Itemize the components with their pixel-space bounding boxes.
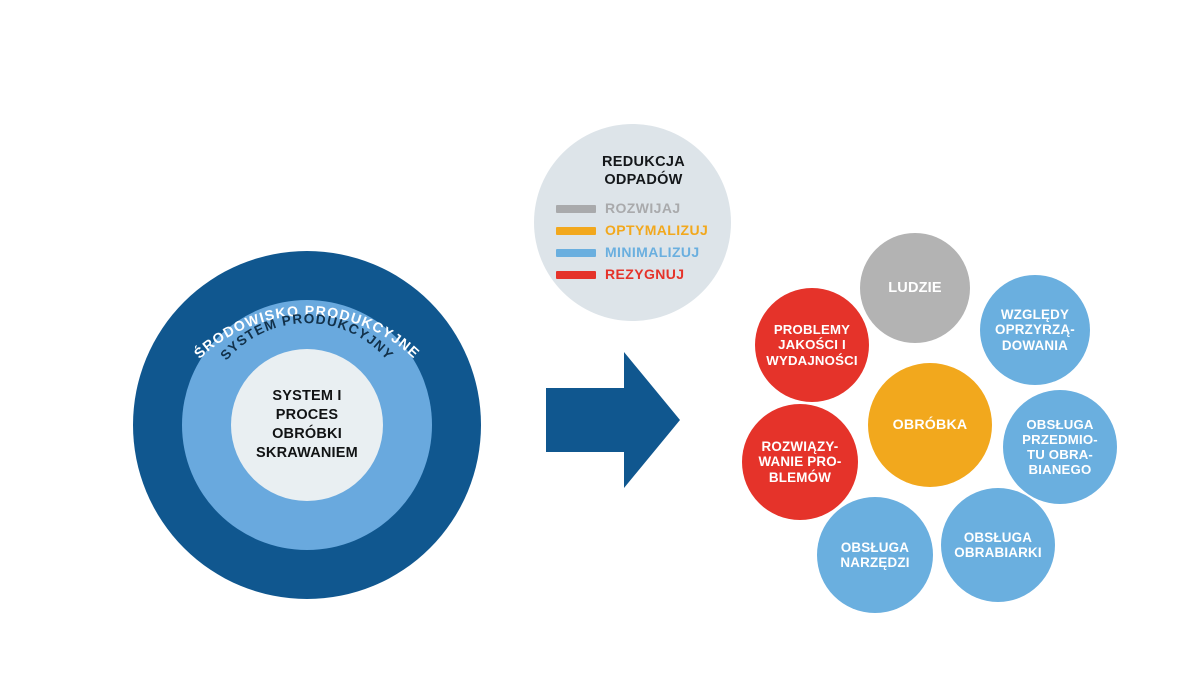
bubble-ludzie-label: LUDZIE xyxy=(888,280,942,297)
bubble-obsluga-narzedzi-label: OBSŁUGA NARZĘDZI xyxy=(840,540,909,571)
legend-label-rezygnuj: REZYGNUJ xyxy=(605,267,684,283)
bubble-rozwiazywanie-problemow: ROZWIĄZY- WANIE PRO- BLEMÓW xyxy=(742,404,858,520)
legend-item-rozwijaj: ROZWIJAJ xyxy=(556,200,731,217)
bubble-wzgledy-oprzyrzadowania-label: WZGLĘDY OPRZYRZĄ- DOWANIA xyxy=(995,307,1075,353)
legend-label-optymalizuj: OPTYMALIZUJ xyxy=(605,223,708,239)
diagram-canvas: SYSTEM I PROCES OBRÓBKI SKRAWANIEM ŚRODO… xyxy=(0,0,1200,690)
legend-label-rozwijaj: ROZWIJAJ xyxy=(605,201,681,217)
bubble-obsluga-narzedzi: OBSŁUGA NARZĘDZI xyxy=(817,497,933,613)
legend-item-rezygnuj: REZYGNUJ xyxy=(556,266,731,283)
bubble-problemy-jakosci-label: PROBLEMY JAKOŚCI I WYDAJNOŚCI xyxy=(766,322,857,367)
bubble-wzgledy-oprzyrzadowania: WZGLĘDY OPRZYRZĄ- DOWANIA xyxy=(980,275,1090,385)
legend-title: REDUKCJA ODPADÓW xyxy=(556,154,731,189)
inner-circle-label: SYSTEM I PROCES OBRÓBKI SKRAWANIEM xyxy=(256,387,358,462)
bubble-obsluga-przedmiotu-obrabianego: OBSŁUGA PRZEDMIO- TU OBRA- BIANEGO xyxy=(1003,390,1117,504)
bubble-ludzie: LUDZIE xyxy=(860,233,970,343)
legend-bubble: REDUKCJA ODPADÓW ROZWIJAJ OPTYMALIZUJ MI… xyxy=(534,124,731,321)
inner-circle-machining-process: SYSTEM I PROCES OBRÓBKI SKRAWANIEM xyxy=(231,349,383,501)
bubble-problemy-jakosci: PROBLEMY JAKOŚCI I WYDAJNOŚCI xyxy=(755,288,869,402)
bubble-obrobka: OBRÓBKA xyxy=(868,363,992,487)
bubble-obsluga-obrabiarki-label: OBSŁUGA OBRABIARKI xyxy=(954,530,1042,561)
legend-swatch-minimalizuj xyxy=(556,249,596,257)
bubble-obsluga-przedmiotu-obrabianego-label: OBSŁUGA PRZEDMIO- TU OBRA- BIANEGO xyxy=(1022,417,1098,477)
bubble-rozwiazywanie-problemow-label: ROZWIĄZY- WANIE PRO- BLEMÓW xyxy=(758,439,841,485)
bubble-obrobka-label: OBRÓBKA xyxy=(893,417,968,433)
legend-swatch-rozwijaj xyxy=(556,205,596,213)
legend-item-optymalizuj: OPTYMALIZUJ xyxy=(556,222,731,239)
legend-item-minimalizuj: MINIMALIZUJ xyxy=(556,244,731,261)
legend-swatch-optymalizuj xyxy=(556,227,596,235)
legend-label-minimalizuj: MINIMALIZUJ xyxy=(605,245,700,261)
legend-content: REDUKCJA ODPADÓW ROZWIJAJ OPTYMALIZUJ MI… xyxy=(534,124,731,288)
bubble-obsluga-obrabiarki: OBSŁUGA OBRABIARKI xyxy=(941,488,1055,602)
legend-swatch-rezygnuj xyxy=(556,271,596,279)
arrow-right-icon xyxy=(546,352,680,488)
